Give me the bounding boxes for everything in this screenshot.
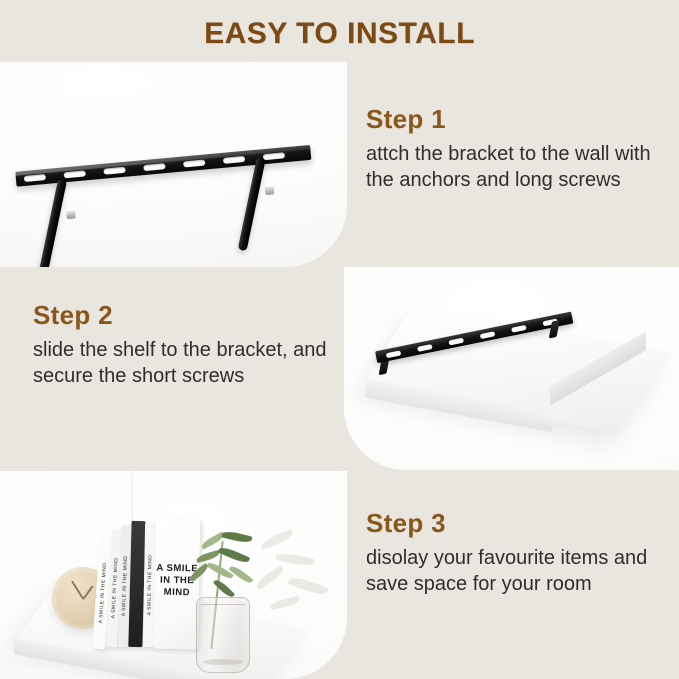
book-spine-title: A SMILE IN THE MIND: [97, 562, 107, 623]
bracket-slot: [183, 159, 205, 167]
bracket-slot: [417, 344, 433, 352]
bracket-slot: [223, 155, 245, 163]
bracket-support-rod: [238, 156, 266, 251]
step-2-text-block: Step 2 slide the shelf to the bracket, a…: [33, 300, 333, 390]
bracket-slot: [448, 337, 464, 345]
step-1-image-panel: [0, 62, 347, 267]
rod-screw-collar: [66, 210, 76, 219]
step-2-heading: Step 2: [33, 300, 333, 331]
bracket-slot: [386, 350, 402, 358]
step-3-heading: Step 3: [366, 508, 671, 539]
step-1-photo: [0, 62, 347, 267]
step-3-text-block: Step 3 disolay your favourite items and …: [366, 508, 671, 598]
step-3-photo: A SMILE IN THE MIND A SMILE IN THE MIND …: [0, 471, 347, 679]
step-2-photo: [344, 267, 679, 470]
bracket-slot: [24, 174, 46, 182]
bracket-slot: [480, 331, 496, 339]
bracket-support-rod: [34, 179, 67, 267]
book-spine-title: A SMILE IN THE MIND: [121, 556, 129, 617]
step-1-heading: Step 1: [366, 104, 666, 135]
step-2-body: slide the shelf to the bracket, and secu…: [33, 337, 333, 390]
rod-screw-collar: [265, 186, 275, 195]
wall-shadow-foliage: [250, 515, 346, 625]
book-spine-title: A SMILE IN THE MIND: [146, 555, 153, 616]
book-front-cover: A SMILE IN THE MIND: [154, 519, 200, 650]
page-title: EASY TO INSTALL: [0, 17, 679, 51]
glass-vase: [196, 597, 250, 673]
bracket-slot: [103, 166, 125, 174]
bracket-slot: [63, 170, 85, 178]
step-2-image-panel: [344, 267, 679, 470]
step-3-image-panel: A SMILE IN THE MIND A SMILE IN THE MIND …: [0, 471, 347, 679]
infographic-page: EASY TO INSTALL Step 1: [0, 0, 679, 679]
step-1-text-block: Step 1 attch the bracket to the wall wit…: [366, 104, 666, 194]
step-3-body: disolay your favourite items and save sp…: [366, 545, 671, 598]
book-spine-title: A SMILE IN THE MIND: [110, 557, 119, 618]
bracket-slot: [263, 152, 285, 160]
step-1-body: attch the bracket to the wall with the a…: [366, 141, 666, 194]
wall-bracket-graphic: [14, 127, 323, 264]
bracket-slot: [143, 163, 165, 171]
bracket-slot: [511, 324, 527, 332]
